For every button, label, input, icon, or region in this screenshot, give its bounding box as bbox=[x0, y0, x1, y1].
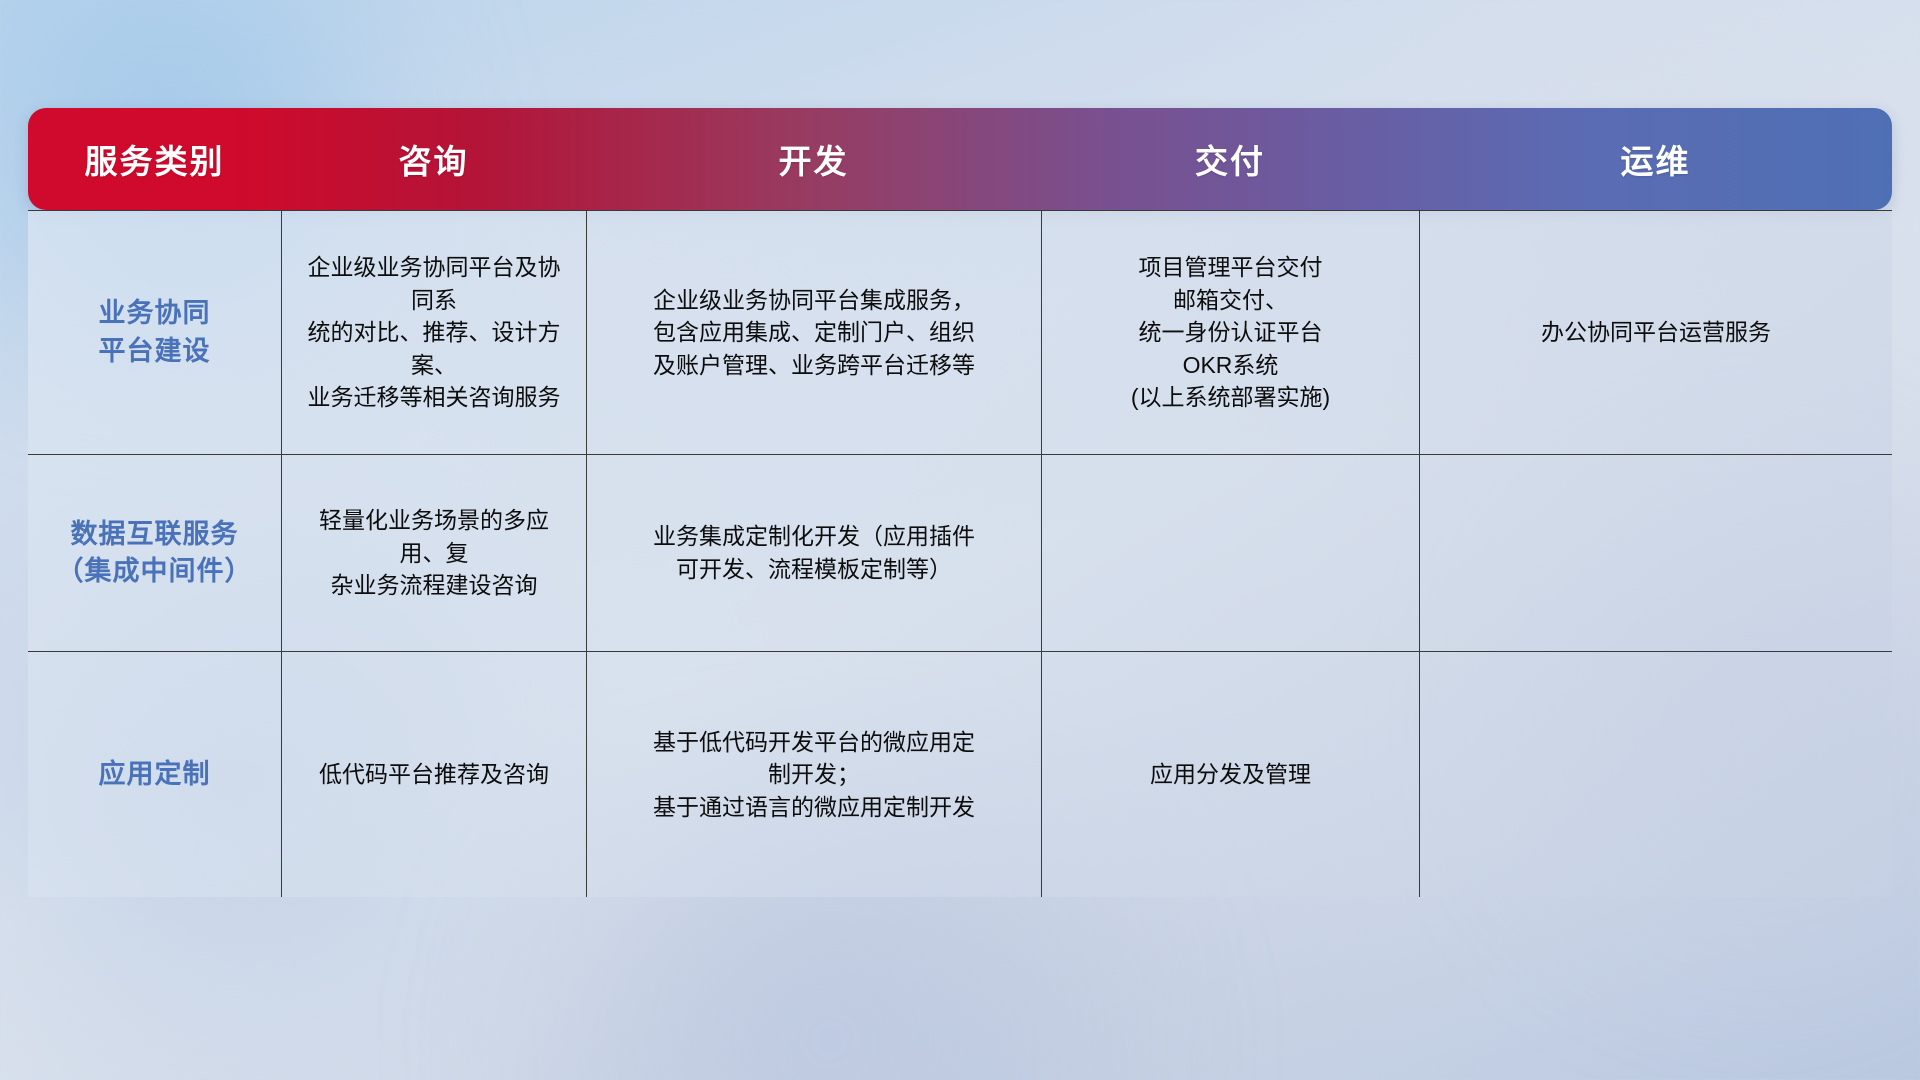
cell-delivery bbox=[1041, 455, 1419, 651]
cell-operations bbox=[1419, 455, 1892, 651]
cell-category: 应用定制 bbox=[28, 652, 281, 897]
cell-consulting: 轻量化业务场景的多应用、复 杂业务流程建设咨询 bbox=[281, 455, 586, 651]
table-body: 业务协同 平台建设 企业级业务协同平台及协同系 统的对比、推荐、设计方案、 业务… bbox=[28, 210, 1892, 897]
table-row: 应用定制 低代码平台推荐及咨询 基于低代码开发平台的微应用定 制开发； 基于通过… bbox=[28, 651, 1892, 897]
cell-delivery: 应用分发及管理 bbox=[1041, 652, 1419, 897]
cell-consulting: 低代码平台推荐及咨询 bbox=[281, 652, 586, 897]
column-header-development: 开发 bbox=[586, 108, 1041, 210]
service-matrix-table: 服务类别 咨询 开发 交付 运维 业务协同 平台建设 企业级业务协同平台及协同系… bbox=[28, 108, 1892, 897]
column-header-label: 开发 bbox=[779, 135, 849, 183]
cell-consulting: 企业级业务协同平台及协同系 统的对比、推荐、设计方案、 业务迁移等相关咨询服务 bbox=[281, 211, 586, 454]
column-header-delivery: 交付 bbox=[1041, 108, 1419, 210]
cell-development: 业务集成定制化开发（应用插件 可开发、流程模板定制等） bbox=[586, 455, 1041, 651]
cell-operations: 办公协同平台运营服务 bbox=[1419, 211, 1892, 454]
table-header-row: 服务类别 咨询 开发 交付 运维 bbox=[28, 108, 1892, 210]
column-header-label: 服务类别 bbox=[85, 135, 225, 183]
column-header-consulting: 咨询 bbox=[281, 108, 586, 210]
cell-development: 企业级业务协同平台集成服务， 包含应用集成、定制门户、组织 及账户管理、业务跨平… bbox=[586, 211, 1041, 454]
column-header-service-category: 服务类别 bbox=[28, 108, 281, 210]
column-header-label: 交付 bbox=[1195, 135, 1265, 183]
table-row: 数据互联服务 （集成中间件） 轻量化业务场景的多应用、复 杂业务流程建设咨询 业… bbox=[28, 454, 1892, 651]
cell-delivery: 项目管理平台交付 邮箱交付、 统一身份认证平台 OKR系统 (以上系统部署实施) bbox=[1041, 211, 1419, 454]
column-header-label: 咨询 bbox=[399, 135, 469, 183]
cell-category: 数据互联服务 （集成中间件） bbox=[28, 455, 281, 651]
cell-operations bbox=[1419, 652, 1892, 897]
cell-category: 业务协同 平台建设 bbox=[28, 211, 281, 454]
column-header-label: 运维 bbox=[1621, 135, 1691, 183]
cell-development: 基于低代码开发平台的微应用定 制开发； 基于通过语言的微应用定制开发 bbox=[586, 652, 1041, 897]
column-header-operations: 运维 bbox=[1419, 108, 1892, 210]
table-row: 业务协同 平台建设 企业级业务协同平台及协同系 统的对比、推荐、设计方案、 业务… bbox=[28, 210, 1892, 454]
